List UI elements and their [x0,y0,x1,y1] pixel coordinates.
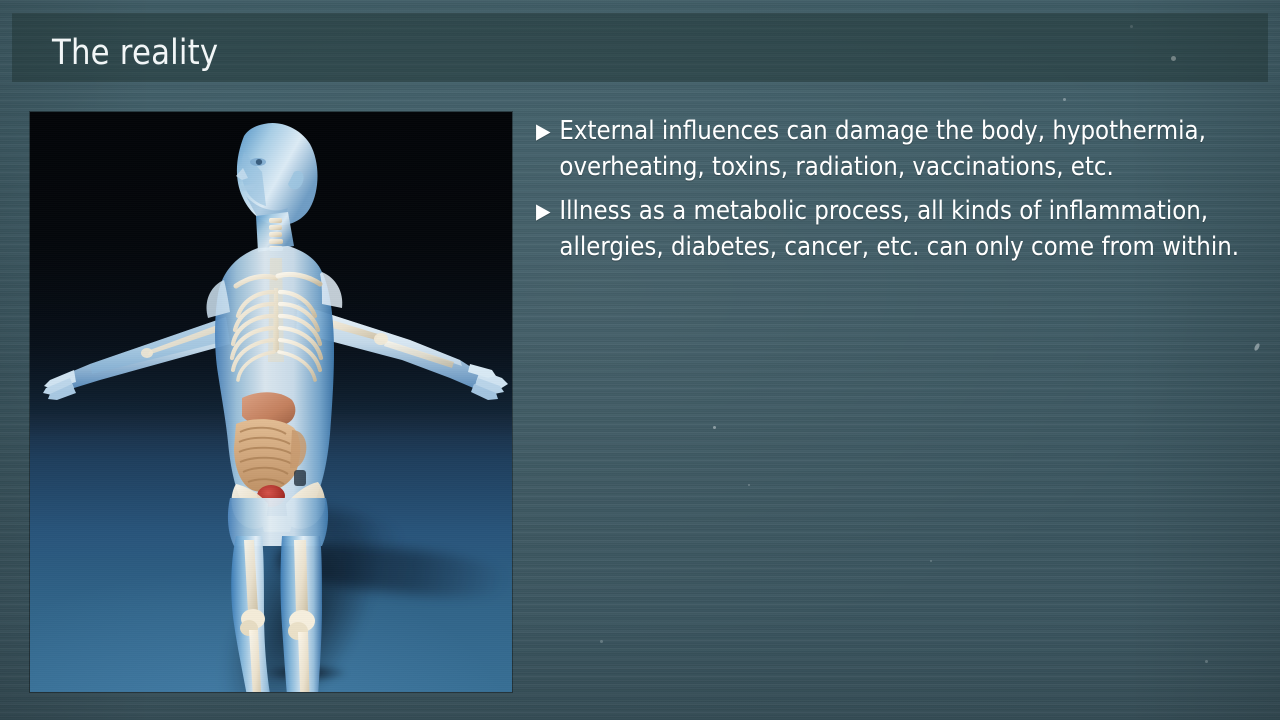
legs [215,536,336,692]
background-speck [1253,343,1260,352]
left-arm [43,317,230,400]
background-speck [713,426,716,429]
bullet-text: External influences can damage the body,… [559,116,1205,182]
background-speck [1205,660,1208,663]
anatomy-image [30,112,512,692]
background-speck [1063,98,1066,101]
slide-body-text: ▶External influences can damage the body… [536,114,1236,274]
torso [207,246,343,507]
background-speck [748,484,750,486]
bullet-item: ▶Illness as a metabolic process, all kin… [536,194,1270,265]
slide-title-bar: The reality [12,13,1268,82]
human-body-svg [30,112,512,692]
presentation-slide: The reality [0,0,1280,720]
background-speck [600,640,603,643]
triangle-bullet-icon: ▶ [536,114,559,150]
page-title: The reality [52,33,218,73]
neck [256,212,294,252]
bullet-text: Illness as a metabolic process, all kind… [559,196,1239,262]
head [236,123,318,225]
background-speck [930,560,932,562]
triangle-bullet-icon: ▶ [536,194,559,230]
bullet-item: ▶External influences can damage the body… [536,114,1270,185]
human-figure [30,112,512,692]
